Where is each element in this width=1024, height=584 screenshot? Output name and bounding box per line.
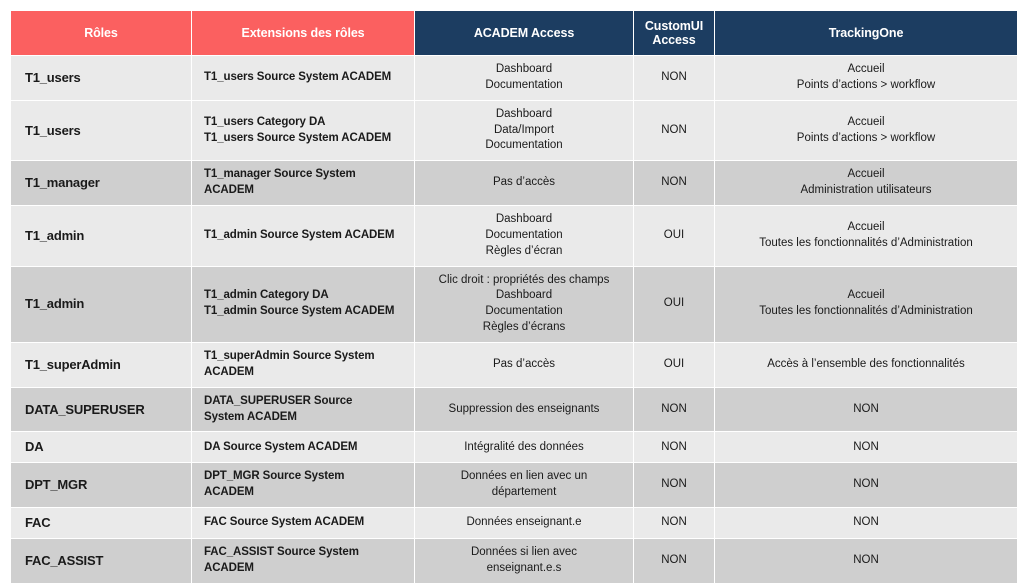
table-row[interactable]: T1_superAdminT1_superAdmin Source System… — [11, 343, 1017, 387]
cell-trackingone: AccueilPoints d’actions > workflow — [715, 101, 1017, 161]
cell-role: T1_superAdmin — [11, 343, 191, 387]
cell-role-extensions: T1_manager Source SystemACADEM — [192, 161, 414, 205]
cell-trackingone: AccueilToutes les fonctionnalités d’Admi… — [715, 267, 1017, 342]
cell-trackingone: Accès à l’ensemble des fonctionnalités — [715, 343, 1017, 387]
cell-academ-access-line: Suppression des enseignants — [423, 402, 625, 418]
cell-academ-access-line: Dashboard — [423, 288, 625, 304]
cell-role-extensions-line: T1_admin Source System ACADEM — [204, 304, 406, 320]
cell-academ-access: Pas d’accès — [415, 343, 633, 387]
cell-trackingone: NON — [715, 432, 1017, 462]
cell-role-extensions: T1_users Source System ACADEM — [192, 56, 414, 100]
cell-academ-access-line: Données en lien avec un — [423, 469, 625, 485]
cell-trackingone-line: Accès à l’ensemble des fonctionnalités — [723, 357, 1009, 373]
cell-trackingone-line: Accueil — [723, 62, 1009, 78]
cell-academ-access-line: Clic droit : propriétés des champs — [423, 273, 625, 289]
cell-role-extensions-line: ACADEM — [204, 183, 406, 199]
cell-role-extensions-line: T1_manager Source System — [204, 167, 406, 183]
cell-role-extensions: DPT_MGR Source SystemACADEM — [192, 463, 414, 507]
cell-customui-access: NON — [634, 508, 714, 538]
cell-role: FAC_ASSIST — [11, 539, 191, 583]
table-row[interactable]: T1_usersT1_users Source System ACADEMDas… — [11, 56, 1017, 100]
cell-role-extensions-line: T1_admin Category DA — [204, 288, 406, 304]
cell-academ-access: DashboardDocumentationRègles d’écran — [415, 206, 633, 266]
cell-academ-access-line: Documentation — [423, 138, 625, 154]
cell-role-extensions-line: System ACADEM — [204, 410, 406, 426]
cell-trackingone-line: Accueil — [723, 220, 1009, 236]
cell-trackingone-line: Administration utilisateurs — [723, 183, 1009, 199]
cell-role-extensions: FAC_ASSIST Source SystemACADEM — [192, 539, 414, 583]
cell-role: T1_users — [11, 56, 191, 100]
cell-customui-access: NON — [634, 388, 714, 432]
cell-customui-access: NON — [634, 56, 714, 100]
cell-customui-access: OUI — [634, 343, 714, 387]
cell-role-extensions-line: T1_superAdmin Source System — [204, 349, 406, 365]
cell-academ-access-line: Dashboard — [423, 62, 625, 78]
cell-trackingone: AccueilToutes les fonctionnalités d’Admi… — [715, 206, 1017, 266]
column-header-tracking[interactable]: TrackingOne — [715, 11, 1017, 55]
cell-role-extensions-line: ACADEM — [204, 365, 406, 381]
cell-customui-access: NON — [634, 539, 714, 583]
cell-role-extensions: T1_admin Source System ACADEM — [192, 206, 414, 266]
cell-academ-access: Pas d’accès — [415, 161, 633, 205]
cell-trackingone: AccueilAdministration utilisateurs — [715, 161, 1017, 205]
cell-academ-access: Données en lien avec undépartement — [415, 463, 633, 507]
table-row[interactable]: T1_managerT1_manager Source SystemACADEM… — [11, 161, 1017, 205]
cell-role-extensions: FAC Source System ACADEM — [192, 508, 414, 538]
column-header-ext[interactable]: Extensions des rôles — [192, 11, 414, 55]
cell-role-extensions-line: DATA_SUPERUSER Source — [204, 394, 406, 410]
cell-role: T1_admin — [11, 206, 191, 266]
cell-trackingone-line: Accueil — [723, 167, 1009, 183]
column-header-academ[interactable]: ACADEM Access — [415, 11, 633, 55]
cell-trackingone-line: NON — [723, 477, 1009, 493]
header-row: RôlesExtensions des rôlesACADEM AccessCu… — [11, 11, 1017, 55]
table-row[interactable]: DADA Source System ACADEMIntégralité des… — [11, 432, 1017, 462]
cell-academ-access-line: Règles d’écran — [423, 244, 625, 260]
cell-customui-access: NON — [634, 463, 714, 507]
cell-trackingone-line: NON — [723, 440, 1009, 456]
cell-academ-access: Données enseignant.e — [415, 508, 633, 538]
cell-role-extensions-line: T1_users Source System ACADEM — [204, 70, 406, 86]
cell-trackingone: NON — [715, 539, 1017, 583]
cell-trackingone-line: NON — [723, 515, 1009, 531]
table-header: RôlesExtensions des rôlesACADEM AccessCu… — [11, 11, 1017, 55]
cell-trackingone-line: Points d’actions > workflow — [723, 131, 1009, 147]
cell-role-extensions-line: T1_users Source System ACADEM — [204, 131, 406, 147]
cell-academ-access-line: Données si lien avec — [423, 545, 625, 561]
cell-trackingone-line: Toutes les fonctionnalités d’Administrat… — [723, 236, 1009, 252]
cell-role: T1_admin — [11, 267, 191, 342]
cell-trackingone: NON — [715, 463, 1017, 507]
cell-trackingone-line: NON — [723, 553, 1009, 569]
page-root: RôlesExtensions des rôlesACADEM AccessCu… — [0, 0, 1024, 560]
table-row[interactable]: FAC_ASSISTFAC_ASSIST Source SystemACADEM… — [11, 539, 1017, 583]
cell-academ-access-line: Documentation — [423, 304, 625, 320]
cell-academ-access-line: département — [423, 485, 625, 501]
cell-academ-access: Suppression des enseignants — [415, 388, 633, 432]
cell-academ-access-line: Dashboard — [423, 212, 625, 228]
cell-customui-access: OUI — [634, 267, 714, 342]
cell-role-extensions-line: T1_admin Source System ACADEM — [204, 228, 406, 244]
cell-role-extensions-line: ACADEM — [204, 561, 406, 577]
cell-academ-access: Clic droit : propriétés des champsDashbo… — [415, 267, 633, 342]
cell-trackingone-line: Points d’actions > workflow — [723, 78, 1009, 94]
cell-academ-access-line: Data/Import — [423, 123, 625, 139]
column-header-customui[interactable]: CustomUIAccess — [634, 11, 714, 55]
cell-academ-access-line: Intégralité des données — [423, 440, 625, 456]
cell-trackingone-line: Accueil — [723, 115, 1009, 131]
cell-trackingone: NON — [715, 388, 1017, 432]
cell-role: DPT_MGR — [11, 463, 191, 507]
table-row[interactable]: T1_adminT1_admin Source System ACADEMDas… — [11, 206, 1017, 266]
table-row[interactable]: T1_usersT1_users Category DAT1_users Sou… — [11, 101, 1017, 161]
cell-trackingone-line: NON — [723, 402, 1009, 418]
cell-academ-access-line: Pas d’accès — [423, 357, 625, 373]
cell-academ-access: DashboardDocumentation — [415, 56, 633, 100]
cell-academ-access: DashboardData/ImportDocumentation — [415, 101, 633, 161]
cell-role: FAC — [11, 508, 191, 538]
cell-role-extensions-line: T1_users Category DA — [204, 115, 406, 131]
cell-academ-access-line: Pas d’accès — [423, 175, 625, 191]
table-body: T1_usersT1_users Source System ACADEMDas… — [11, 56, 1017, 583]
cell-role-extensions-line: DPT_MGR Source System — [204, 469, 406, 485]
table-row[interactable]: DPT_MGRDPT_MGR Source SystemACADEMDonnée… — [11, 463, 1017, 507]
roles-access-matrix-table: RôlesExtensions des rôlesACADEM AccessCu… — [10, 10, 1018, 584]
cell-trackingone: NON — [715, 508, 1017, 538]
cell-academ-access-line: Documentation — [423, 228, 625, 244]
cell-academ-access-line: Dashboard — [423, 107, 625, 123]
cell-academ-access-line: Règles d’écrans — [423, 320, 625, 336]
cell-customui-access: OUI — [634, 206, 714, 266]
table-row[interactable]: T1_adminT1_admin Category DAT1_admin Sou… — [11, 267, 1017, 342]
cell-academ-access-line: enseignant.e.s — [423, 561, 625, 577]
cell-role-extensions: T1_users Category DAT1_users Source Syst… — [192, 101, 414, 161]
table-row[interactable]: FACFAC Source System ACADEMDonnées ensei… — [11, 508, 1017, 538]
cell-role-extensions: DA Source System ACADEM — [192, 432, 414, 462]
cell-trackingone-line: Accueil — [723, 288, 1009, 304]
column-header-line: CustomUI — [640, 19, 708, 33]
cell-role-extensions-line: ACADEM — [204, 485, 406, 501]
cell-role: T1_manager — [11, 161, 191, 205]
cell-academ-access: Intégralité des données — [415, 432, 633, 462]
cell-role-extensions-line: FAC Source System ACADEM — [204, 515, 406, 531]
cell-role-extensions: T1_admin Category DAT1_admin Source Syst… — [192, 267, 414, 342]
cell-trackingone-line: Toutes les fonctionnalités d’Administrat… — [723, 304, 1009, 320]
column-header-line: Access — [640, 33, 708, 47]
cell-academ-access-line: Données enseignant.e — [423, 515, 625, 531]
table-row[interactable]: DATA_SUPERUSERDATA_SUPERUSER SourceSyste… — [11, 388, 1017, 432]
column-header-role[interactable]: Rôles — [11, 11, 191, 55]
cell-trackingone: AccueilPoints d’actions > workflow — [715, 56, 1017, 100]
cell-customui-access: NON — [634, 161, 714, 205]
cell-role-extensions: T1_superAdmin Source SystemACADEM — [192, 343, 414, 387]
cell-academ-access: Données si lien avecenseignant.e.s — [415, 539, 633, 583]
cell-academ-access-line: Documentation — [423, 78, 625, 94]
cell-role-extensions-line: DA Source System ACADEM — [204, 440, 406, 456]
cell-customui-access: NON — [634, 101, 714, 161]
cell-role: DA — [11, 432, 191, 462]
cell-role-extensions: DATA_SUPERUSER SourceSystem ACADEM — [192, 388, 414, 432]
cell-customui-access: NON — [634, 432, 714, 462]
cell-role: T1_users — [11, 101, 191, 161]
cell-role: DATA_SUPERUSER — [11, 388, 191, 432]
cell-role-extensions-line: FAC_ASSIST Source System — [204, 545, 406, 561]
